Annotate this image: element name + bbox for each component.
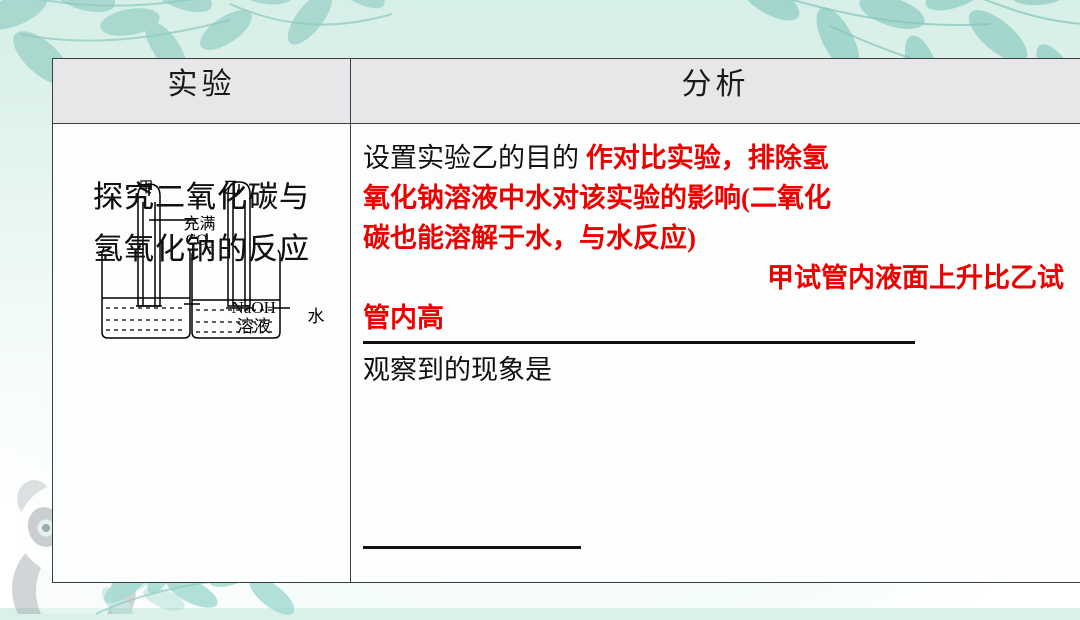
- question-2-prompt: 观察到的现象是: [363, 350, 1070, 390]
- analysis-line-2: 氧化钠溶液中水对该实验的影响(二氧化: [363, 178, 1070, 218]
- answer-underline-2: [363, 546, 581, 549]
- figure-label-water: 水: [308, 302, 325, 327]
- table-header-row: 实验 分析: [53, 59, 1080, 124]
- answer-underline-1: [363, 341, 915, 344]
- column-header-analysis: 分析: [351, 59, 1080, 124]
- answer-2-line-2: 管内高: [363, 303, 444, 333]
- analysis-cell: 设置实验乙的目的 作对比实验，排除氢 氧化钠溶液中水对该实验的影响(二氧化 碳也…: [351, 124, 1080, 583]
- analysis-line-1: 设置实验乙的目的 作对比实验，排除氢: [363, 138, 1070, 178]
- answer-1-line-3: 碳也能溶解于水，与水反应): [363, 223, 696, 253]
- experiment-cell: 探究二氧化碳与 氢氧化钠的反应: [53, 124, 351, 583]
- analysis-line-4: 甲试管内液面上升比乙试: [363, 258, 1070, 298]
- experiment-title-line-1: 探究二氧化碳与: [53, 172, 350, 224]
- exercise-table: 实验 分析 探究二氧化碳与 氢氧化钠的反应: [52, 58, 1080, 583]
- answer-1-line-1: 作对比实验，排除氢: [586, 143, 829, 173]
- answer-1-line-2: 氧化钠溶液中水对该实验的影响(二氧化: [363, 183, 831, 213]
- column-header-experiment-label: 实验: [168, 68, 236, 101]
- question-1-prompt: 设置实验乙的目的: [363, 143, 579, 173]
- figure-label-naoh-line2: 溶液: [237, 317, 271, 336]
- experiment-title: 探究二氧化碳与 氢氧化钠的反应: [53, 172, 350, 276]
- column-header-experiment: 实验: [53, 59, 351, 124]
- table-row: 探究二氧化碳与 氢氧化钠的反应: [53, 124, 1080, 583]
- figure-label-naoh-solution: NaOH 溶液: [232, 298, 276, 336]
- experiment-content: 探究二氧化碳与 氢氧化钠的反应: [53, 172, 350, 276]
- figure-label-naoh-line1: NaOH: [232, 298, 276, 317]
- analysis-content: 设置实验乙的目的 作对比实验，排除氢 氧化钠溶液中水对该实验的影响(二氧化 碳也…: [363, 138, 1070, 390]
- analysis-line-3: 碳也能溶解于水，与水反应): [363, 218, 1070, 258]
- answer-2-line-1: 甲试管内液面上升比乙试: [767, 263, 1064, 293]
- analysis-line-5: 管内高: [363, 298, 1070, 338]
- experiment-title-line-2: 氢氧化钠的反应: [53, 224, 350, 276]
- column-header-analysis-label: 分析: [682, 68, 750, 101]
